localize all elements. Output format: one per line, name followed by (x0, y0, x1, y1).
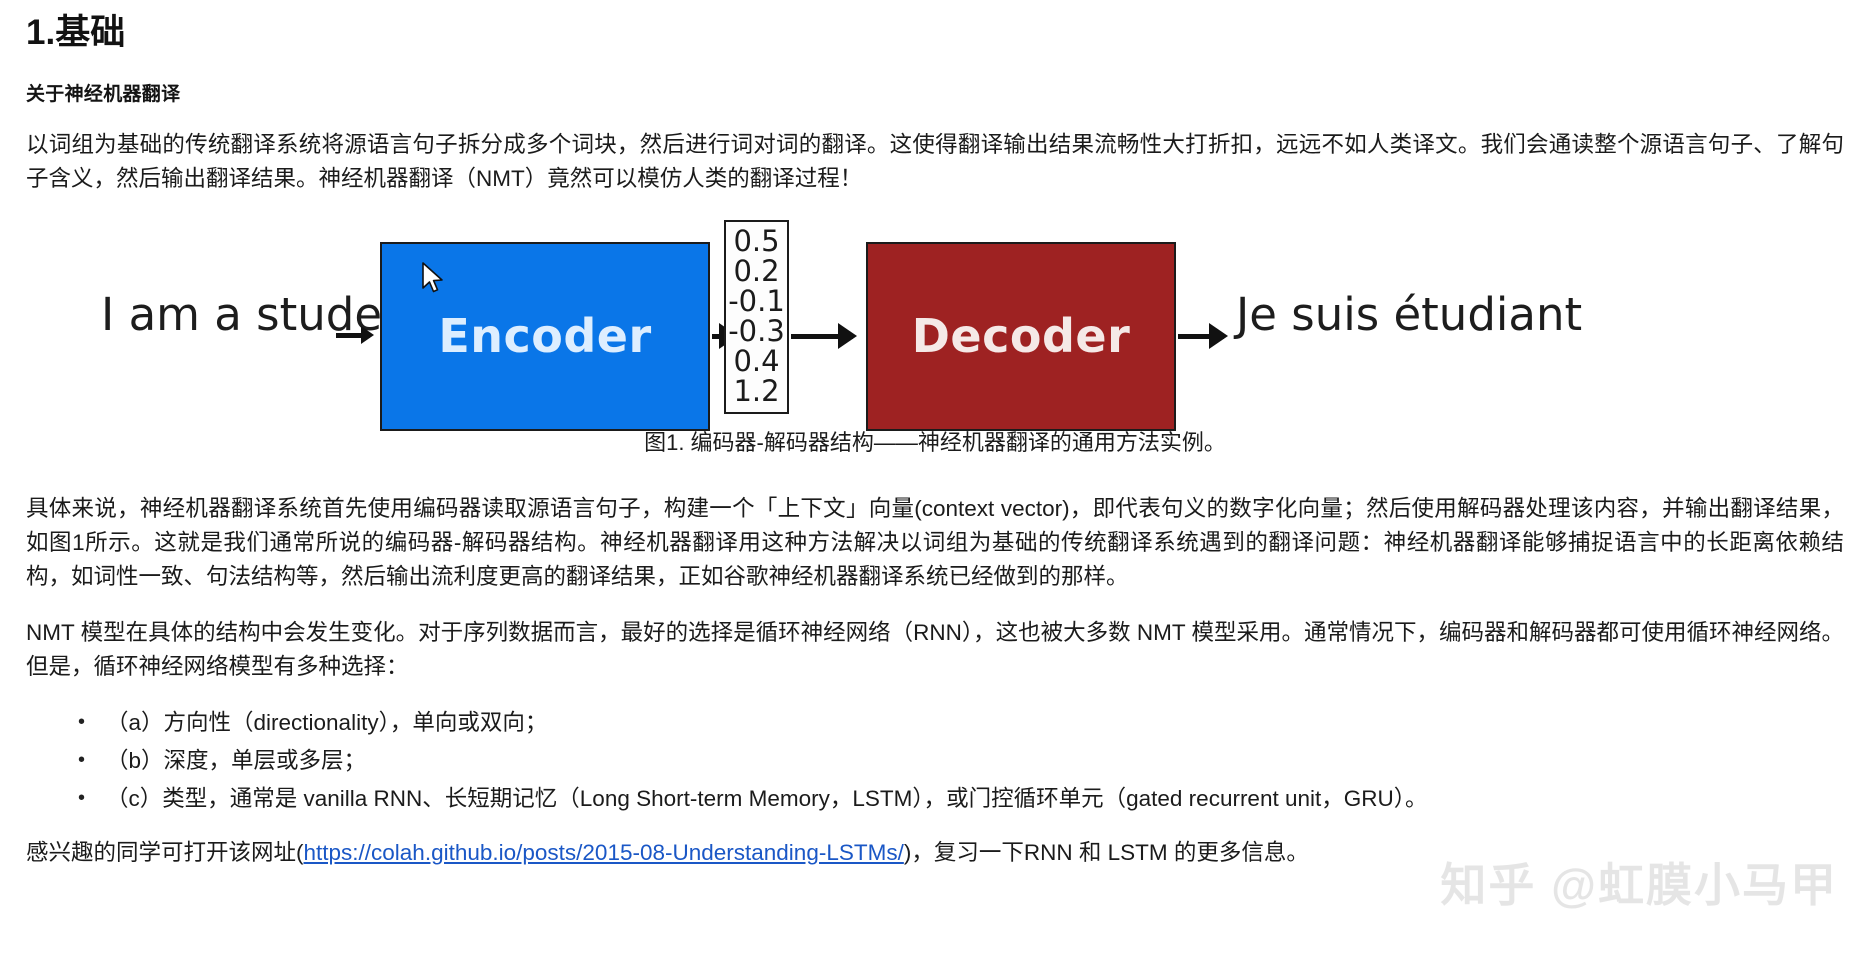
list-item: （c）类型，通常是 vanilla RNN、长短期记忆（Long Short-t… (78, 780, 1844, 818)
figure-caption: 图1. 编码器-解码器结构——神经机器翻译的通用方法实例。 (26, 425, 1844, 457)
vector-value: 0.4 (726, 347, 787, 376)
encoder-box: Encoder (380, 242, 710, 431)
vector-value: 0.2 (726, 257, 787, 286)
vector-value: 0.5 (726, 227, 787, 256)
figure-output-sentence: Je suis étudiant (1236, 292, 1582, 337)
context-vector-box: 0.5 0.2 -0.1 -0.3 0.4 1.2 (724, 220, 789, 414)
figure-diagram: I am a student Encoder 0.5 0.2 -0.1 -0.3 (26, 220, 1844, 432)
paragraph-rnn: NMT 模型在具体的结构中会发生变化。对于序列数据而言，最好的选择是循环神经网络… (26, 616, 1844, 684)
lstm-reference-link[interactable]: https://colah.github.io/posts/2015-08-Un… (304, 840, 904, 865)
closing-suffix: )，复习一下RNN 和 LSTM 的更多信息。 (904, 840, 1309, 865)
list-item: （a）方向性（directionality），单向或双向； (78, 704, 1844, 742)
watermark: 知乎 @虹膜小马甲 (1440, 849, 1838, 915)
paragraph-intro: 以词组为基础的传统翻译系统将源语言句子拆分成多个词块，然后进行词对词的翻译。这使… (26, 128, 1844, 196)
decoder-box: Decoder (866, 242, 1176, 431)
decoder-label: Decoder (912, 309, 1131, 363)
arrow-source-to-encoder (336, 333, 370, 338)
vector-value: 1.2 (726, 377, 787, 406)
arrow-vector-to-decoder (791, 334, 853, 339)
document-page: 1.基础 关于神经机器翻译 以词组为基础的传统翻译系统将源语言句子拆分成多个词块… (0, 0, 1868, 971)
vector-value: -0.3 (726, 317, 787, 346)
section-subheading: 关于神经机器翻译 (26, 79, 1844, 106)
vector-value: -0.1 (726, 287, 787, 316)
paragraph-details: 具体来说，神经机器翻译系统首先使用编码器读取源语言句子，构建一个「上下文」向量(… (26, 492, 1844, 594)
encoder-label: Encoder (438, 309, 651, 363)
arrow-decoder-to-output (1178, 334, 1224, 339)
page-title: 1.基础 (26, 14, 1844, 53)
list-item: （b）深度，单层或多层； (78, 742, 1844, 780)
figure-encoder-decoder: I am a student Encoder 0.5 0.2 -0.1 -0.3 (26, 220, 1844, 470)
document-content: 1.基础 关于神经机器翻译 以词组为基础的传统翻译系统将源语言句子拆分成多个词块… (26, 0, 1844, 870)
closing-prefix: 感兴趣的同学可打开该网址( (26, 840, 304, 865)
rnn-choice-list: （a）方向性（directionality），单向或双向； （b）深度，单层或多… (26, 704, 1844, 818)
